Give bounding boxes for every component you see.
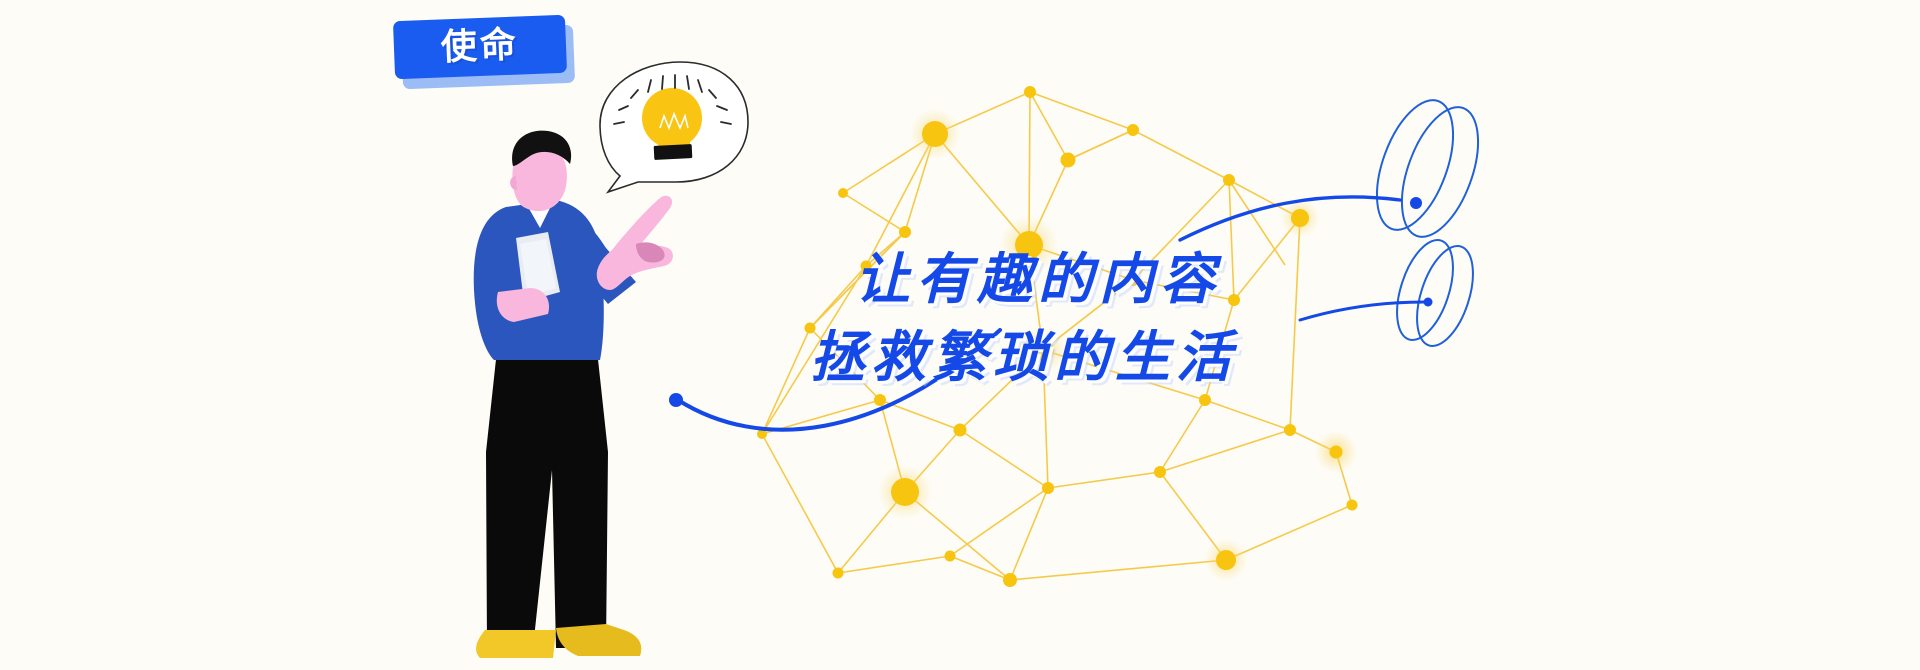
headline-line-1: 让有趣的内容 <box>855 240 1420 318</box>
mission-badge[interactable]: 使命 <box>388 14 578 100</box>
banner-canvas: 使命 让有趣的内容 拯救繁琐的生活 <box>0 0 1920 670</box>
mission-badge-plate: 使命 <box>393 15 567 80</box>
headline: 让有趣的内容 拯救繁琐的生活 <box>800 240 1420 396</box>
lightbulb-base <box>654 144 693 160</box>
headline-line-2: 拯救繁琐的生活 <box>810 318 1420 396</box>
mission-badge-label: 使命 <box>440 28 519 67</box>
